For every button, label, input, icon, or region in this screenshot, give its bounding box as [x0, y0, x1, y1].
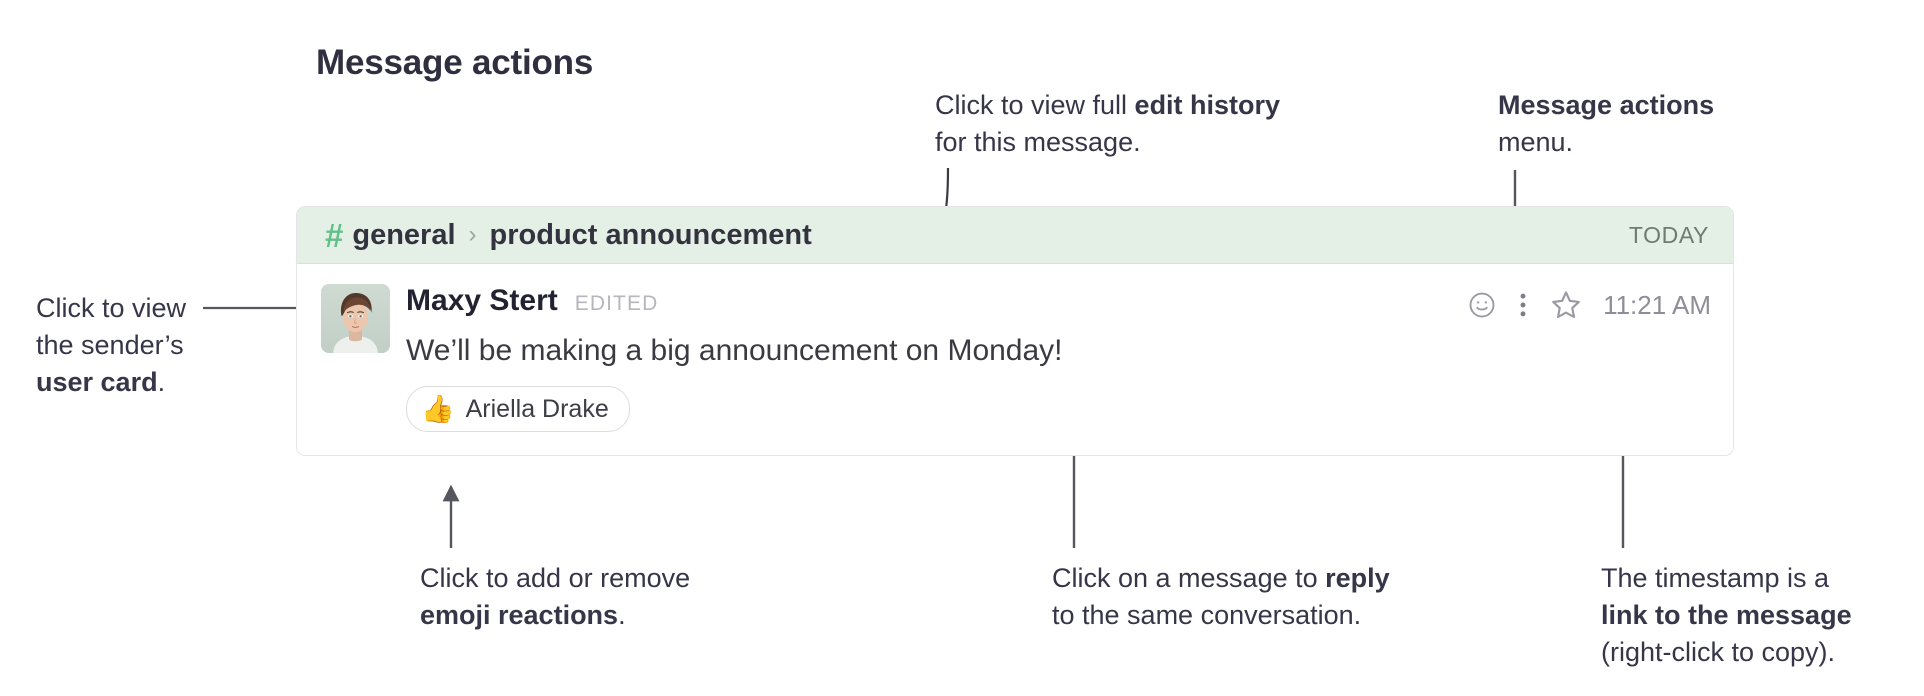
annotation-reply: Click on a message to reply to the same …: [1052, 560, 1390, 634]
annotation-text: Click to add or remove: [420, 560, 690, 597]
annotation-user-card: Click to view the sender’s user card.: [36, 290, 186, 401]
message-body-text[interactable]: We’ll be making a big announcement on Mo…: [406, 332, 1709, 370]
annotation-text: (right-click to copy).: [1601, 634, 1852, 671]
annotation-timestamp: The timestamp is a link to the message (…: [1601, 560, 1852, 671]
reaction-list: 👍 Ariella Drake: [406, 386, 1709, 432]
annotation-emoji-reactions: Click to add or remove emoji reactions.: [420, 560, 690, 634]
annotation-text: menu.: [1498, 124, 1714, 161]
chevron-right-icon: ›: [469, 221, 477, 249]
annotation-text: Click to view: [36, 290, 186, 327]
annotation-emphasis: reply: [1325, 563, 1390, 593]
message-actions-menu-icon[interactable]: [1515, 288, 1531, 322]
reaction-pill[interactable]: 👍 Ariella Drake: [406, 386, 630, 432]
message-card: # general › product announcement TODAY: [296, 206, 1734, 456]
annotation-text: .: [618, 600, 626, 630]
edited-badge[interactable]: EDITED: [575, 292, 659, 316]
message-row[interactable]: Maxy Stert EDITED We’ll be making a big …: [297, 264, 1733, 432]
annotation-emphasis: user card: [36, 367, 158, 397]
message-action-icons: 11:21 AM: [1465, 288, 1711, 322]
annotation-text: the sender’s: [36, 327, 186, 364]
annotation-text: The timestamp is a: [1601, 560, 1852, 597]
message-timestamp-link[interactable]: 11:21 AM: [1603, 288, 1711, 322]
annotation-emphasis: Message actions: [1498, 90, 1714, 120]
annotation-text: for this message.: [935, 124, 1280, 161]
avatar-photo: [321, 284, 390, 353]
annotation-text: to the same conversation.: [1052, 597, 1390, 634]
sender-name[interactable]: Maxy Stert: [406, 284, 558, 318]
avatar[interactable]: [321, 284, 390, 353]
date-label[interactable]: TODAY: [1629, 222, 1709, 249]
stream-name-link[interactable]: general: [352, 219, 455, 252]
recipient-bar[interactable]: # general › product announcement TODAY: [297, 207, 1733, 264]
thumbs-up-icon: 👍: [421, 396, 455, 423]
topic-name-link[interactable]: product announcement: [490, 219, 812, 252]
annotation-emphasis: edit history: [1135, 90, 1281, 120]
annotation-actions-menu: Message actions menu.: [1498, 87, 1714, 161]
annotation-text: .: [158, 367, 166, 397]
annotation-text: Click on a message to: [1052, 563, 1325, 593]
annotation-edit-history: Click to view full edit history for this…: [935, 87, 1280, 161]
reaction-user-label: Ariella Drake: [466, 395, 609, 424]
page-title: Message actions: [316, 43, 593, 83]
hash-icon: #: [325, 219, 342, 252]
annotation-emphasis: link to the message: [1601, 600, 1852, 630]
annotation-text: Click to view full: [935, 90, 1135, 120]
emoji-reaction-icon[interactable]: [1465, 288, 1499, 322]
star-icon[interactable]: [1549, 288, 1583, 322]
annotation-emphasis: emoji reactions: [420, 600, 618, 630]
